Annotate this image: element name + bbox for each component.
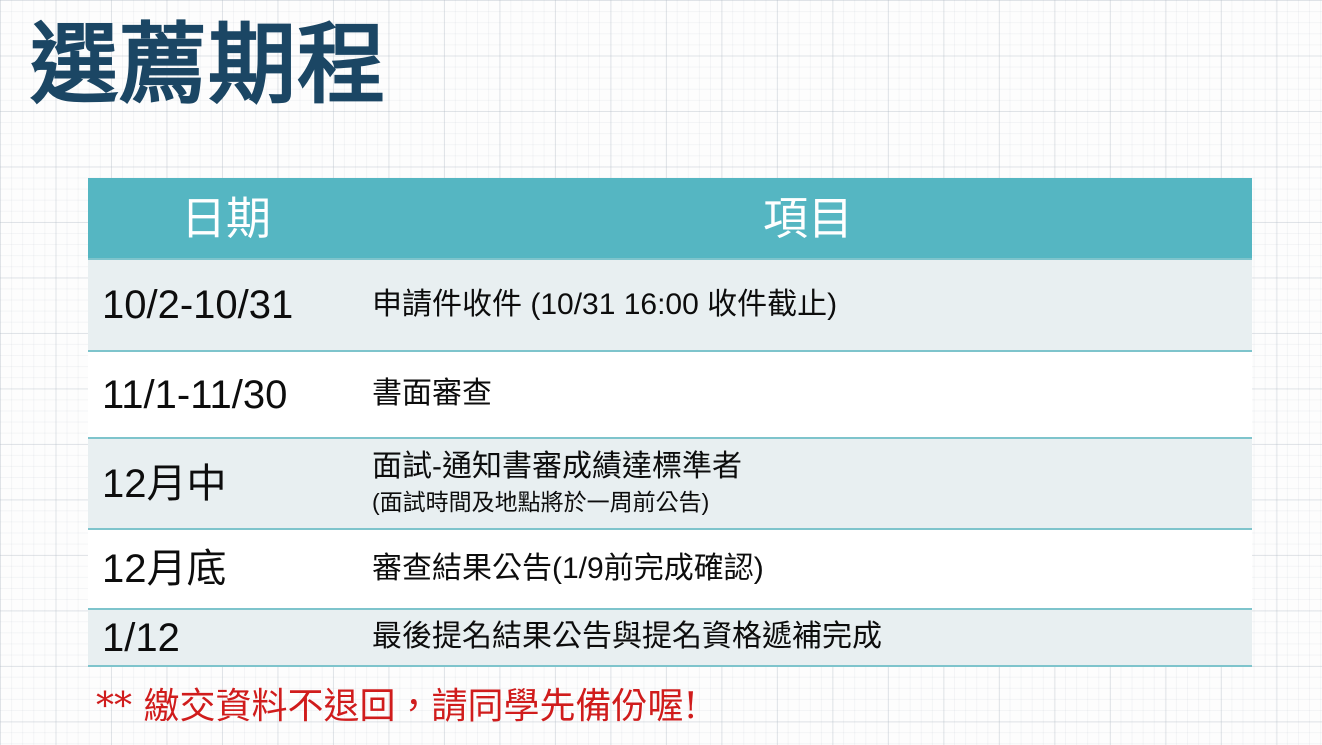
cell-date: 10/2-10/31 <box>88 259 364 351</box>
cell-item-subnote: (面試時間及地點將於一周前公告) <box>372 488 1252 517</box>
page-title: 選薦期程 <box>30 16 386 115</box>
table-header-row: 日期 項目 <box>88 178 1252 259</box>
cell-date: 12月中 <box>88 438 364 529</box>
footnote-warning: ** 繳交資料不退回，請同學先備份喔! <box>96 685 698 728</box>
schedule-table: 日期 項目 10/2-10/31 申請件收件 (10/31 16:00 收件截止… <box>88 178 1252 667</box>
table-row: 12月中 面試-通知書審成績達標準者 (面試時間及地點將於一周前公告) <box>88 438 1252 529</box>
column-header-item: 項目 <box>364 178 1252 259</box>
table-header: 日期 項目 <box>88 178 1252 259</box>
table-row: 11/1-11/30 書面審查 <box>88 351 1252 438</box>
table-row: 10/2-10/31 申請件收件 (10/31 16:00 收件截止) <box>88 259 1252 351</box>
cell-item: 面試-通知書審成績達標準者 (面試時間及地點將於一周前公告) <box>364 438 1252 529</box>
cell-item-main: 最後提名結果公告與提名資格遞補完成 <box>372 620 882 653</box>
slide-canvas: 選薦期程 日期 項目 10/2-10/31 申請件收件 (10/31 16:00… <box>0 0 1322 745</box>
cell-date: 12月底 <box>88 529 364 609</box>
cell-item: 申請件收件 (10/31 16:00 收件截止) <box>364 259 1252 351</box>
cell-date: 11/1-11/30 <box>88 351 364 438</box>
table-row: 12月底 審查結果公告(1/9前完成確認) <box>88 529 1252 609</box>
table-body: 10/2-10/31 申請件收件 (10/31 16:00 收件截止) 11/1… <box>88 259 1252 666</box>
cell-item-main: 審查結果公告(1/9前完成確認) <box>372 552 764 585</box>
column-header-date: 日期 <box>88 178 364 259</box>
cell-item: 審查結果公告(1/9前完成確認) <box>364 529 1252 609</box>
cell-item: 書面審查 <box>364 351 1252 438</box>
cell-item-main: 申請件收件 (10/31 16:00 收件截止) <box>372 288 837 321</box>
cell-date: 1/12 <box>88 609 364 666</box>
cell-item-main: 面試-通知書審成績達標準者 <box>372 450 742 483</box>
cell-item-main: 書面審查 <box>372 377 492 410</box>
cell-item: 最後提名結果公告與提名資格遞補完成 <box>364 609 1252 666</box>
table-row: 1/12 最後提名結果公告與提名資格遞補完成 <box>88 609 1252 666</box>
